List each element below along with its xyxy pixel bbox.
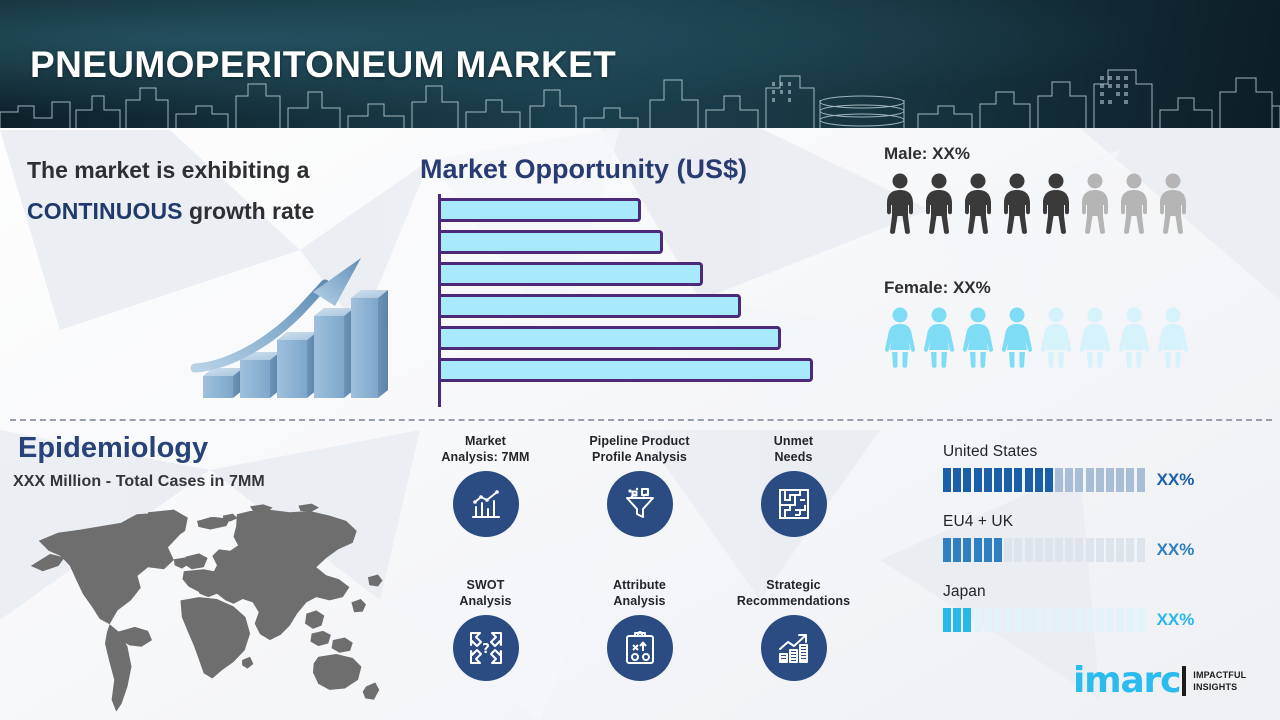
meter-segment	[1014, 468, 1022, 492]
growth-arrow-bars-icon	[185, 250, 410, 410]
male-figure-row	[884, 172, 1189, 239]
market-opportunity-bar	[441, 262, 703, 286]
logo-tagline-line2: INSIGHTS	[1193, 681, 1246, 693]
region-percentage: XX%	[1157, 610, 1195, 630]
meter-segment	[1055, 538, 1063, 562]
service-label: UnmetNeeds	[712, 433, 875, 467]
meter-segment	[984, 468, 992, 492]
meter-segment	[1106, 608, 1114, 632]
meter-segment	[1065, 608, 1073, 632]
meter-segment	[1035, 468, 1043, 492]
service-label: MarketAnalysis: 7MM	[404, 433, 567, 467]
meter-segment	[1106, 468, 1114, 492]
meter-segment	[1004, 538, 1012, 562]
meter-segment	[1137, 608, 1145, 632]
page-title: PNEUMOPERITONEUM MARKET	[30, 44, 616, 86]
meter-segment	[1045, 608, 1053, 632]
market-opportunity-bar	[441, 230, 663, 254]
region-row: JapanXX%	[943, 583, 1243, 632]
market-opportunity-chart	[438, 194, 838, 407]
male-figure-icon	[1040, 172, 1072, 239]
region-meter-row: XX%	[943, 468, 1243, 492]
female-figure-row	[884, 306, 1189, 373]
meter-segment	[1014, 538, 1022, 562]
meter-segment	[953, 608, 961, 632]
tagline-highlight: CONTINUOUS	[27, 198, 183, 224]
male-figure-icon	[962, 172, 994, 239]
meter-segment	[1137, 468, 1145, 492]
epidemiology-subtitle: XXX Million - Total Cases in 7MM	[13, 473, 265, 491]
service-swot-analysis[interactable]: SWOTAnalysis ?	[404, 577, 567, 681]
meter-segment	[984, 608, 992, 632]
meter-segment	[963, 608, 971, 632]
meter-segment	[1025, 608, 1033, 632]
funnel-icon	[607, 471, 673, 537]
region-name: Japan	[943, 583, 1243, 601]
service-attribute-analysis[interactable]: AttributeAnalysis	[558, 577, 721, 681]
meter-segment	[984, 538, 992, 562]
region-meter	[943, 538, 1145, 562]
meter-segment	[974, 468, 982, 492]
meter-segment	[1096, 468, 1104, 492]
meter-segment	[953, 538, 961, 562]
male-figure-icon	[884, 172, 916, 239]
meter-segment	[963, 468, 971, 492]
services-grid: MarketAnalysis: 7MM Pipeline ProductProf…	[404, 433, 892, 713]
male-figure-icon	[1118, 172, 1150, 239]
male-figure-icon	[1001, 172, 1033, 239]
female-figure-icon	[962, 306, 994, 373]
region-name: United States	[943, 443, 1243, 461]
logo-wordmark: imarc	[1073, 663, 1180, 699]
tagline-part1: The market is exhibiting a	[27, 157, 309, 183]
meter-segment	[974, 538, 982, 562]
meter-segment	[1035, 538, 1043, 562]
market-opportunity-bar	[441, 358, 813, 382]
meter-segment	[1065, 468, 1073, 492]
meter-segment	[1075, 468, 1083, 492]
market-opportunity-bar	[441, 198, 641, 222]
logo-tagline-line1: IMPACTFUL	[1193, 669, 1246, 681]
meter-segment	[1086, 468, 1094, 492]
meter-segment	[1055, 468, 1063, 492]
service-strategic-recommendations[interactable]: StrategicRecommendations	[712, 577, 875, 681]
female-figure-icon	[923, 306, 955, 373]
region-meter-row: XX%	[943, 538, 1243, 562]
meter-segment	[1055, 608, 1063, 632]
section-divider	[10, 419, 1272, 421]
meter-segment	[994, 538, 1002, 562]
region-meter	[943, 468, 1145, 492]
region-meter-row: XX%	[943, 608, 1243, 632]
page-header: PNEUMOPERITONEUM MARKET	[0, 0, 1280, 128]
meter-segment	[963, 538, 971, 562]
meter-segment	[1045, 538, 1053, 562]
region-row: EU4 + UKXX%	[943, 513, 1243, 562]
meter-segment	[1116, 468, 1124, 492]
service-label: SWOTAnalysis	[404, 577, 567, 611]
meter-segment	[974, 608, 982, 632]
market-opportunity-bar	[441, 294, 741, 318]
meter-segment	[994, 468, 1002, 492]
meter-segment	[1025, 468, 1033, 492]
female-figure-icon	[884, 306, 916, 373]
service-market-analysis[interactable]: MarketAnalysis: 7MM	[404, 433, 567, 537]
meter-segment	[1126, 468, 1134, 492]
regional-meters: United StatesXX%EU4 + UKXX%JapanXX%	[943, 443, 1243, 653]
region-row: United StatesXX%	[943, 443, 1243, 492]
four-arrows-question-icon: ?	[453, 615, 519, 681]
female-figure-icon	[1079, 306, 1111, 373]
meter-segment	[953, 468, 961, 492]
meter-segment	[1075, 608, 1083, 632]
service-pipeline-product-profile[interactable]: Pipeline ProductProfile Analysis	[558, 433, 721, 537]
male-figure-icon	[923, 172, 955, 239]
svg-text:?: ?	[482, 642, 490, 657]
meter-segment	[1065, 538, 1073, 562]
meter-segment	[1137, 538, 1145, 562]
meter-segment	[1086, 608, 1094, 632]
meter-segment	[1025, 538, 1033, 562]
meter-segment	[1126, 538, 1134, 562]
market-opportunity-title: Market Opportunity (US$)	[420, 154, 747, 185]
female-figure-icon	[1118, 306, 1150, 373]
meter-segment	[1096, 608, 1104, 632]
market-opportunity-bar	[441, 326, 781, 350]
top-section: The market is exhibiting a CONTINUOUS gr…	[0, 128, 1280, 420]
imarc-logo: imarc IMPACTFUL INSIGHTS	[1073, 663, 1246, 699]
meter-segment	[1014, 608, 1022, 632]
meter-segment	[943, 468, 951, 492]
tagline: The market is exhibiting a CONTINUOUS gr…	[27, 150, 387, 232]
maze-icon	[761, 471, 827, 537]
service-label: AttributeAnalysis	[558, 577, 721, 611]
tagline-part2: growth rate	[183, 198, 315, 224]
female-figure-icon	[1001, 306, 1033, 373]
clipboard-strategy-icon	[607, 615, 673, 681]
meter-segment	[1004, 468, 1012, 492]
region-meter	[943, 608, 1145, 632]
male-block: Male: XX%	[884, 144, 1189, 239]
meter-segment	[1106, 538, 1114, 562]
meter-segment	[994, 608, 1002, 632]
meter-segment	[1126, 608, 1134, 632]
service-label: StrategicRecommendations	[712, 577, 875, 611]
meter-segment	[1045, 468, 1053, 492]
meter-segment	[1096, 538, 1104, 562]
meter-segment	[943, 538, 951, 562]
region-name: EU4 + UK	[943, 513, 1243, 531]
meter-segment	[1075, 538, 1083, 562]
female-block: Female: XX%	[884, 278, 1189, 373]
service-label: Pipeline ProductProfile Analysis	[558, 433, 721, 467]
male-figure-icon	[1157, 172, 1189, 239]
female-figure-icon	[1157, 306, 1189, 373]
male-label: Male: XX%	[884, 144, 1189, 164]
world-map-icon	[18, 501, 396, 713]
meter-segment	[1116, 538, 1124, 562]
region-percentage: XX%	[1157, 540, 1195, 560]
bar-line-chart-icon	[453, 471, 519, 537]
male-figure-icon	[1079, 172, 1111, 239]
epidemiology-title: Epidemiology	[18, 432, 208, 465]
meter-segment	[1086, 538, 1094, 562]
logo-divider	[1182, 666, 1186, 696]
female-label: Female: XX%	[884, 278, 1189, 298]
growth-chart-arrow-icon	[761, 615, 827, 681]
meter-segment	[943, 608, 951, 632]
meter-segment	[1116, 608, 1124, 632]
region-percentage: XX%	[1157, 470, 1195, 490]
female-figure-icon	[1040, 306, 1072, 373]
meter-segment	[1035, 608, 1043, 632]
service-unmet-needs[interactable]: UnmetNeeds	[712, 433, 875, 537]
meter-segment	[1004, 608, 1012, 632]
chart-bars	[441, 198, 813, 390]
